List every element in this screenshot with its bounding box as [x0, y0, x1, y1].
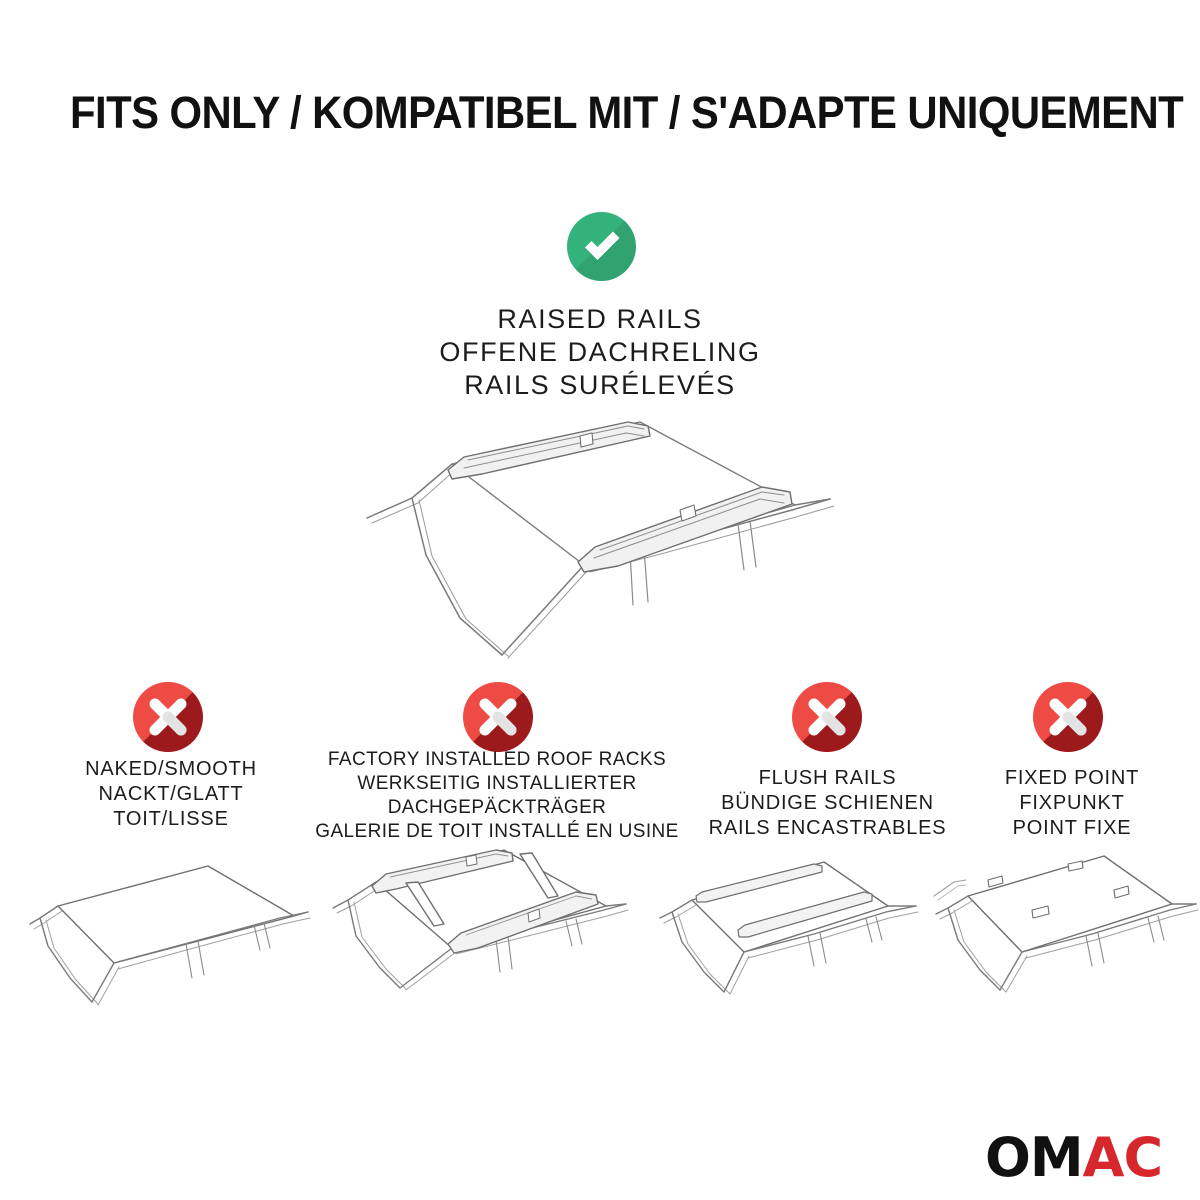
- red-x-icon: [463, 682, 533, 752]
- compatible-caption-line-2: OFFENE DACHRELING: [300, 336, 900, 369]
- compatible-caption: RAISED RAILS OFFENE DACHRELING RAILS SUR…: [300, 303, 900, 402]
- caption-line: FIXPUNKT: [962, 791, 1182, 816]
- caption-line: DACHGEPÄCKTRÄGER: [300, 796, 694, 820]
- car-roof-crossbars-illustration: [308, 838, 648, 1023]
- caption-line: NACKT/GLATT: [40, 782, 302, 807]
- incompatible-caption-fixed-point: FIXED POINT FIXPUNKT POINT FIXE: [962, 766, 1182, 841]
- green-check-icon: [567, 212, 636, 281]
- incompatible-caption-naked-smooth: NAKED/SMOOTH NACKT/GLATT TOIT/LISSE: [40, 757, 302, 832]
- car-roof-bare-illustration: [18, 858, 318, 1038]
- caption-line: FACTORY INSTALLED ROOF RACKS: [300, 748, 694, 772]
- car-roof-raised-rails-illustration: [352, 400, 852, 680]
- compatible-caption-line-3: RAILS SURÉLEVÉS: [300, 369, 900, 402]
- logo-text-red: AC: [1083, 1126, 1162, 1189]
- red-x-icon: [1033, 682, 1103, 752]
- x-glyph: [133, 682, 203, 752]
- omac-logo: OMAC: [985, 1130, 1155, 1185]
- caption-line: TOIT/LISSE: [40, 807, 302, 832]
- red-x-icon: [792, 682, 862, 752]
- caption-line: POINT FIXE: [962, 816, 1182, 841]
- car-roof-fixed-points-illustration: [928, 848, 1200, 1028]
- x-glyph: [463, 682, 533, 752]
- caption-line: BÜNDIGE SCHIENEN: [690, 791, 965, 816]
- caption-line: FLUSH RAILS: [690, 766, 965, 791]
- caption-line: WERKSEITIG INSTALLIERTER: [300, 772, 694, 796]
- car-roof-flush-rails-illustration: [648, 848, 968, 1028]
- incompatible-caption-factory-roof-racks: FACTORY INSTALLED ROOF RACKS WERKSEITIG …: [300, 748, 694, 844]
- caption-line: RAILS ENCASTRABLES: [690, 816, 965, 841]
- compatible-caption-line-1: RAISED RAILS: [300, 303, 900, 336]
- red-x-icon: [133, 682, 203, 752]
- caption-line: FIXED POINT: [962, 766, 1182, 791]
- x-glyph: [792, 682, 862, 752]
- check-glyph: [567, 212, 636, 281]
- page-title: FITS ONLY / KOMPATIBEL MIT / S'ADAPTE UN…: [70, 88, 1065, 138]
- compatibility-infographic: FITS ONLY / KOMPATIBEL MIT / S'ADAPTE UN…: [0, 0, 1200, 1200]
- x-glyph: [1033, 682, 1103, 752]
- incompatible-caption-flush-rails: FLUSH RAILS BÜNDIGE SCHIENEN RAILS ENCAS…: [690, 766, 965, 841]
- caption-line: NAKED/SMOOTH: [40, 757, 302, 782]
- logo-text-dark: OM: [985, 1126, 1083, 1189]
